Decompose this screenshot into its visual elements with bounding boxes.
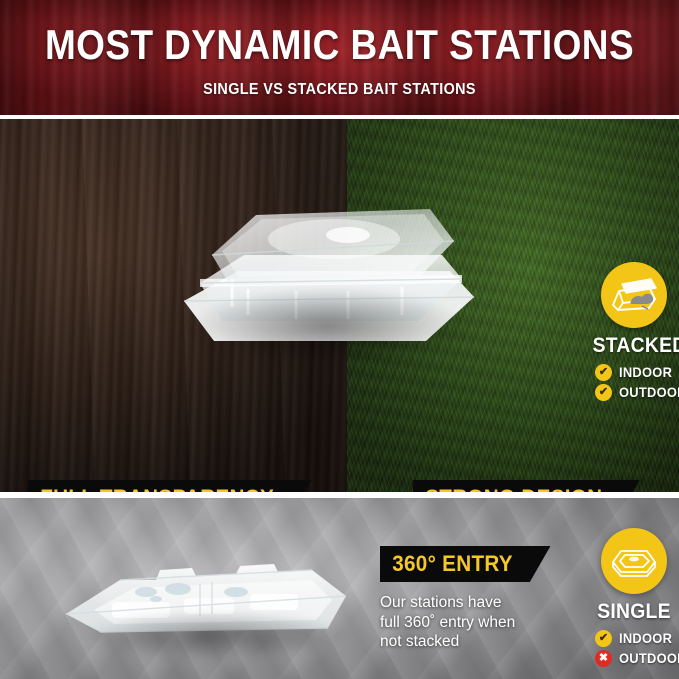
stacked-icon-glyph xyxy=(609,275,659,315)
stacked-product-photo xyxy=(178,179,478,379)
feature-strong-design: STRONG DESIGN Our stations can withstand… xyxy=(413,480,654,492)
badge-label: STACKED xyxy=(593,335,676,357)
top-panel: FULL TRANSPARENCY Our transparent design… xyxy=(0,119,679,492)
feature-title-banner: STRONG DESIGN xyxy=(413,480,640,492)
bottom-panel: 360° ENTRY Our stations have full 360˚ e… xyxy=(0,498,679,679)
check-label: INDOOR xyxy=(619,365,672,380)
feature-full-transparency: FULL TRANSPARENCY Our transparent design… xyxy=(28,480,330,492)
check-row-indoor: ✔ INDOOR xyxy=(595,364,679,381)
badge-label: SINGLE xyxy=(593,601,676,623)
check-row-outdoor: ✔ OUTDOOR xyxy=(595,384,679,401)
badge-check-list: ✔ INDOOR ✖ OUTDOOR xyxy=(589,630,679,667)
badge-check-list: ✔ INDOOR ✔ OUTDOOR xyxy=(589,364,679,401)
divider-top xyxy=(0,115,679,119)
infographic-page: MOST DYNAMIC BAIT STATIONS SINGLE VS STA… xyxy=(0,0,679,679)
feature-360-entry: 360° ENTRY Our stations have full 360˚ e… xyxy=(380,546,561,652)
product-shadow xyxy=(186,287,470,365)
product-shadow xyxy=(80,610,350,660)
feature-title-banner: 360° ENTRY xyxy=(380,546,550,582)
single-bait-station-icon xyxy=(601,528,667,594)
check-yes-icon: ✔ xyxy=(595,630,612,647)
check-no-icon: ✖ xyxy=(595,650,612,667)
badge-single: SINGLE ✔ INDOOR ✖ OUTDOOR xyxy=(589,528,679,670)
check-label: OUTDOOR xyxy=(619,651,679,666)
feature-title-banner: FULL TRANSPARENCY xyxy=(28,480,312,492)
feature-body-text: Our stations have full 360˚ entry when n… xyxy=(380,593,561,652)
check-row-outdoor: ✖ OUTDOOR xyxy=(595,650,679,667)
check-label: INDOOR xyxy=(619,631,672,646)
badge-stacked: STACKED ✔ INDOOR ✔ OUTDOOR xyxy=(589,262,679,404)
check-yes-icon: ✔ xyxy=(595,384,612,401)
single-icon-glyph xyxy=(609,542,659,580)
header-banner: MOST DYNAMIC BAIT STATIONS SINGLE VS STA… xyxy=(0,0,679,115)
page-subtitle: SINGLE VS STACKED BAIT STATIONS xyxy=(34,81,645,99)
check-label: OUTDOOR xyxy=(619,385,679,400)
check-row-indoor: ✔ INDOOR xyxy=(595,630,679,647)
divider-middle xyxy=(0,492,679,498)
check-yes-icon: ✔ xyxy=(595,364,612,381)
page-title: MOST DYNAMIC BAIT STATIONS xyxy=(41,23,639,67)
stacked-bait-station-icon xyxy=(601,262,667,328)
single-product-photo xyxy=(60,518,370,658)
